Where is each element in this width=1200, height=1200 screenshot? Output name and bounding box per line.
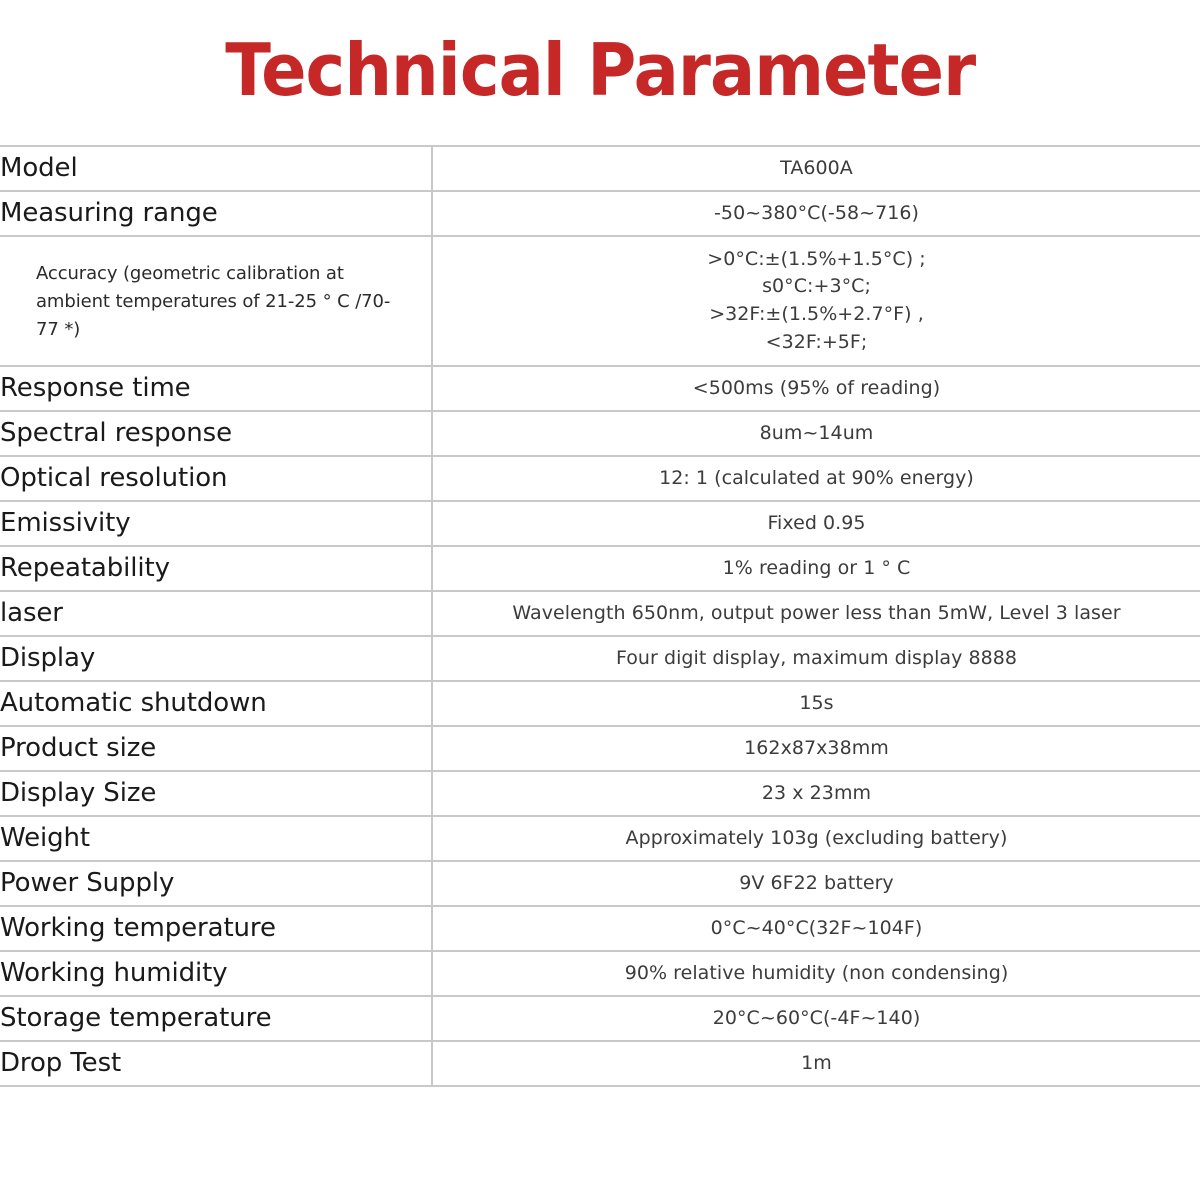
parameter-label-cell: Display Size [0, 771, 432, 816]
table-body: ModelTA600AMeasuring range-50~380°C(-58~… [0, 146, 1200, 1086]
parameter-value-cell: -50~380°C(-58~716) [432, 191, 1200, 236]
parameter-label-cell: Product size [0, 726, 432, 771]
parameter-value-line: >32F:±(1.5%+2.7°F) , [433, 301, 1200, 329]
parameter-label-cell: Spectral response [0, 411, 432, 456]
parameter-value-cell: 90% relative humidity (non condensing) [432, 951, 1200, 996]
parameter-value-cell: <500ms (95% of reading) [432, 366, 1200, 411]
table-row: Spectral response8um~14um [0, 411, 1200, 456]
parameter-label-cell: Model [0, 146, 432, 191]
parameter-label-cell: Accuracy (geometric calibration at ambie… [0, 236, 432, 366]
parameter-value-line: s0°C:+3°C; [433, 273, 1200, 301]
parameter-value-line: >0°C:±(1.5%+1.5°C) ; [433, 246, 1200, 274]
parameter-label-cell: laser [0, 591, 432, 636]
parameter-value-cell: Fixed 0.95 [432, 501, 1200, 546]
technical-parameter-table: ModelTA600AMeasuring range-50~380°C(-58~… [0, 145, 1200, 1087]
table-row: laserWavelength 650nm, output power less… [0, 591, 1200, 636]
parameter-label-cell: Response time [0, 366, 432, 411]
table-row: Display Size23 x 23mm [0, 771, 1200, 816]
table-row: Storage temperature20°C~60°C(-4F~140) [0, 996, 1200, 1041]
title-bar: Technical Parameter [0, 0, 1200, 145]
parameter-label-cell: Drop Test [0, 1041, 432, 1086]
table-row: Automatic shutdown15s [0, 681, 1200, 726]
table-row: Product size162x87x38mm [0, 726, 1200, 771]
parameter-value-cell: 1% reading or 1 ° C [432, 546, 1200, 591]
parameter-value-cell: Four digit display, maximum display 8888 [432, 636, 1200, 681]
parameter-value-cell: 0°C~40°C(32F~104F) [432, 906, 1200, 951]
table-row: Optical resolution12: 1 (calculated at 9… [0, 456, 1200, 501]
table-row: DisplayFour digit display, maximum displ… [0, 636, 1200, 681]
table-row: EmissivityFixed 0.95 [0, 501, 1200, 546]
parameter-value-cell: 20°C~60°C(-4F~140) [432, 996, 1200, 1041]
parameter-value-cell: >0°C:±(1.5%+1.5°C) ;s0°C:+3°C;>32F:±(1.5… [432, 236, 1200, 366]
table-row: Measuring range-50~380°C(-58~716) [0, 191, 1200, 236]
table-row: Power Supply9V 6F22 battery [0, 861, 1200, 906]
table-row: ModelTA600A [0, 146, 1200, 191]
parameter-value-cell: Approximately 103g (excluding battery) [432, 816, 1200, 861]
parameter-value-cell: 15s [432, 681, 1200, 726]
parameter-label-cell: Working temperature [0, 906, 432, 951]
parameter-label-cell: Measuring range [0, 191, 432, 236]
parameter-label-cell: Emissivity [0, 501, 432, 546]
table-row: Accuracy (geometric calibration at ambie… [0, 236, 1200, 366]
table-row: WeightApproximately 103g (excluding batt… [0, 816, 1200, 861]
table-row: Response time<500ms (95% of reading) [0, 366, 1200, 411]
parameter-value-cell: 162x87x38mm [432, 726, 1200, 771]
parameter-value-cell: 8um~14um [432, 411, 1200, 456]
parameter-label-cell: Power Supply [0, 861, 432, 906]
parameter-label-cell: Display [0, 636, 432, 681]
parameter-label-cell: Weight [0, 816, 432, 861]
parameter-value-cell: 1m [432, 1041, 1200, 1086]
parameter-label-cell: Storage temperature [0, 996, 432, 1041]
spec-sheet-page: Technical Parameter ModelTA600AMeasuring… [0, 0, 1200, 1200]
parameter-label-cell: Optical resolution [0, 456, 432, 501]
parameter-value-cell: 23 x 23mm [432, 771, 1200, 816]
page-title: Technical Parameter [225, 34, 975, 106]
parameter-value-cell: 9V 6F22 battery [432, 861, 1200, 906]
parameter-label-cell: Working humidity [0, 951, 432, 996]
table-row: Repeatability1% reading or 1 ° C [0, 546, 1200, 591]
parameter-value-cell: Wavelength 650nm, output power less than… [432, 591, 1200, 636]
parameter-value-cell: 12: 1 (calculated at 90% energy) [432, 456, 1200, 501]
parameter-label-cell: Automatic shutdown [0, 681, 432, 726]
table-row: Working humidity90% relative humidity (n… [0, 951, 1200, 996]
table-row: Working temperature0°C~40°C(32F~104F) [0, 906, 1200, 951]
parameter-value-line: <32F:+5F; [433, 329, 1200, 357]
parameter-label-cell: Repeatability [0, 546, 432, 591]
table-row: Drop Test1m [0, 1041, 1200, 1086]
parameter-value-cell: TA600A [432, 146, 1200, 191]
